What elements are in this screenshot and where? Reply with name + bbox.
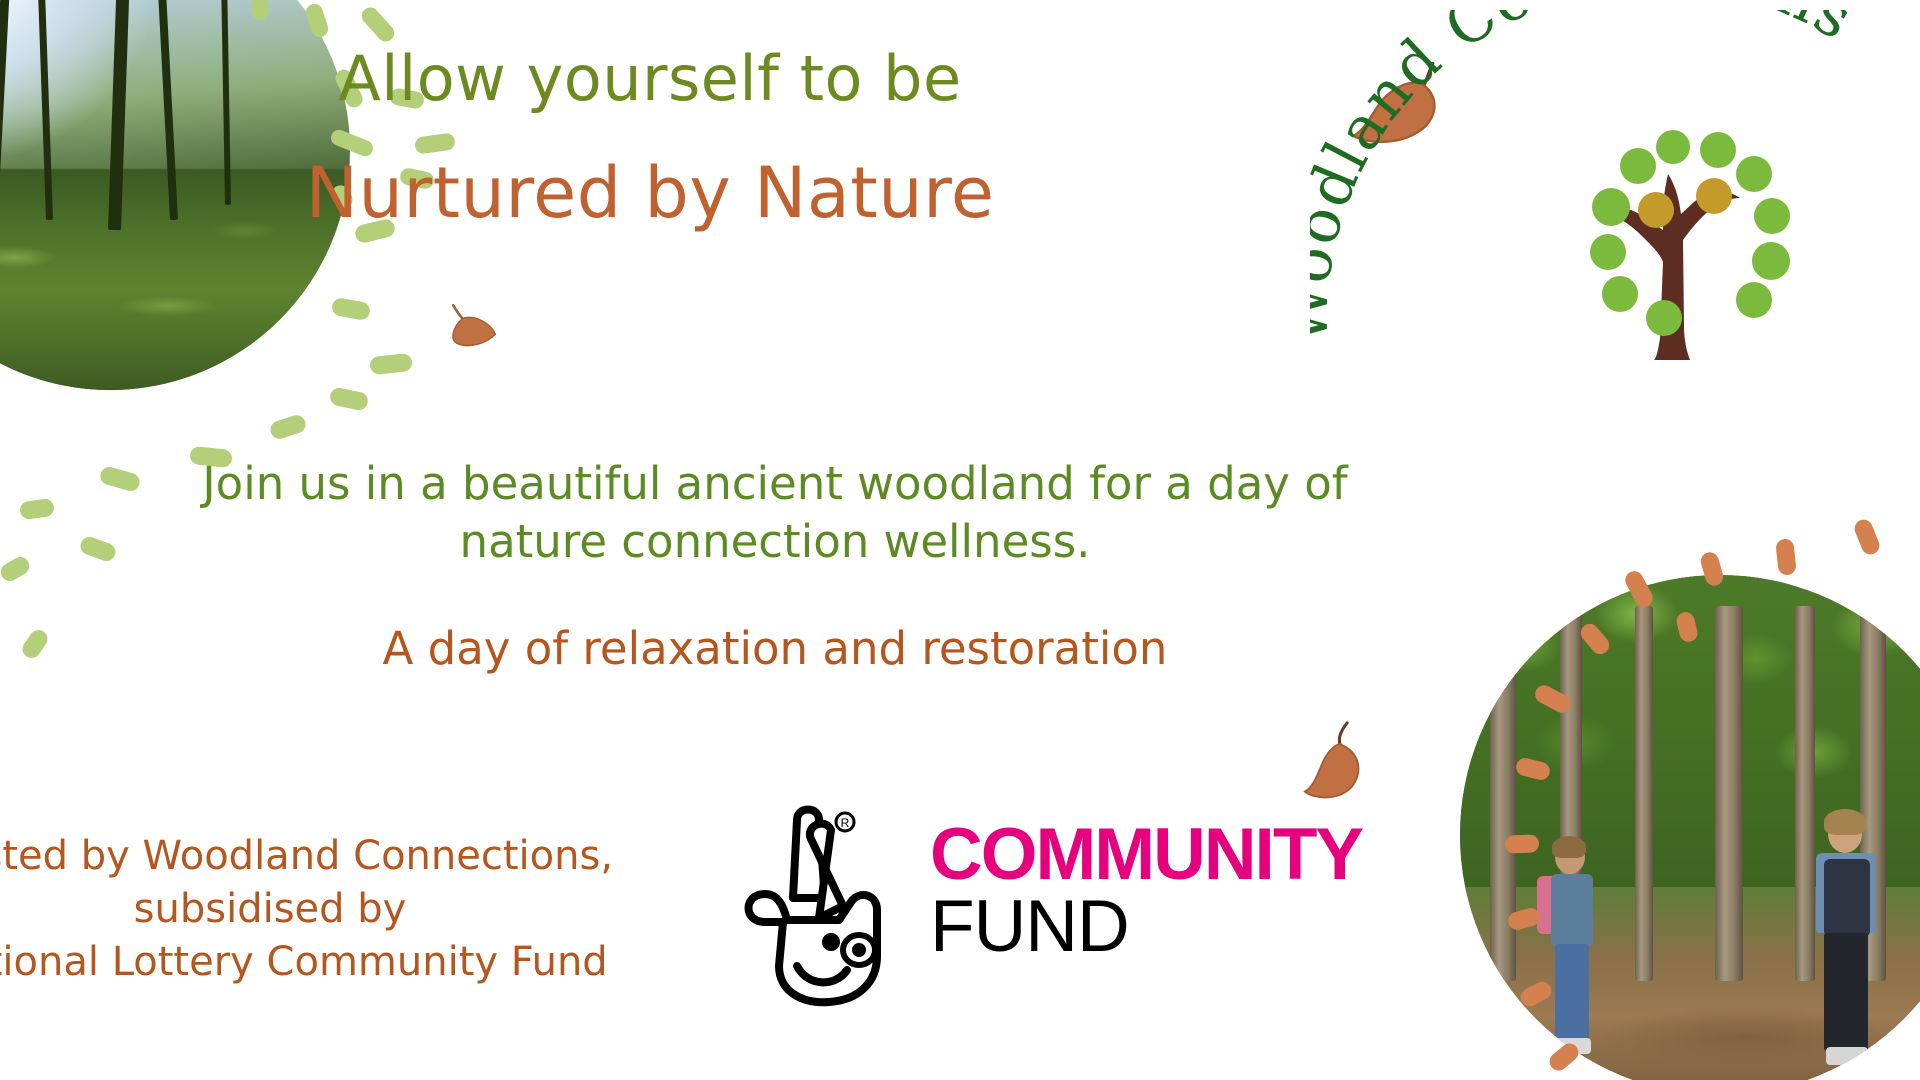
- registered-mark-icon: R: [836, 813, 854, 831]
- national-lottery-community-fund-logo: R COMMUNITY FUND: [735, 790, 1395, 1015]
- lottery-fund-word: FUND: [930, 890, 1362, 963]
- footer-credit: Hosted by Woodland Connections, subsidis…: [0, 830, 670, 988]
- leaf-dot: [1736, 156, 1772, 192]
- leaf-dot: [1656, 130, 1690, 164]
- body-green-line-2: nature connection wellness.: [150, 513, 1400, 571]
- body-text-green: Join us in a beautiful ancient woodland …: [150, 455, 1400, 570]
- footer-line-3: National Lottery Community Fund: [0, 936, 670, 989]
- leaf-dot: [1700, 132, 1736, 168]
- leaf-dot-gold: [1638, 192, 1674, 228]
- footer-line-1: Hosted by Woodland Connections,: [0, 830, 670, 883]
- leaf-dot: [1646, 300, 1682, 336]
- lottery-wordmark: COMMUNITY FUND: [930, 820, 1362, 963]
- person-figure-right: [1800, 815, 1890, 1080]
- leaf-dot-gold: [1696, 178, 1732, 214]
- leaf-dot: [1752, 242, 1790, 280]
- footer-line-2: subsidised by: [0, 883, 670, 936]
- leaf-dot: [1736, 282, 1772, 318]
- leaf-mid-left-icon: [438, 296, 508, 362]
- headline-line-2: Nurtured by Nature: [0, 152, 1300, 234]
- person-figure-left: [1535, 840, 1605, 1070]
- leaf-dot: [1590, 234, 1626, 270]
- body-text-orange: A day of relaxation and restoration: [150, 620, 1400, 678]
- leaf-dot: [1620, 148, 1656, 184]
- brand-tree-icon: [1550, 130, 1800, 360]
- svg-text:R: R: [841, 816, 850, 830]
- flyer-canvas: Allow yourself to be Nurtured by Nature …: [0, 0, 1920, 1080]
- leaf-dot: [1754, 198, 1790, 234]
- leaf-dot: [1602, 276, 1638, 312]
- body-green-line-1: Join us in a beautiful ancient woodland …: [150, 455, 1400, 513]
- crossed-fingers-hand-icon: R: [735, 790, 925, 1010]
- lottery-community-word: COMMUNITY: [930, 820, 1362, 890]
- leaf-dot: [1592, 188, 1630, 226]
- woodland-connections-logo: Woodland Connections: [1310, 10, 1920, 370]
- headline-line-1: Allow yourself to be: [0, 42, 1300, 115]
